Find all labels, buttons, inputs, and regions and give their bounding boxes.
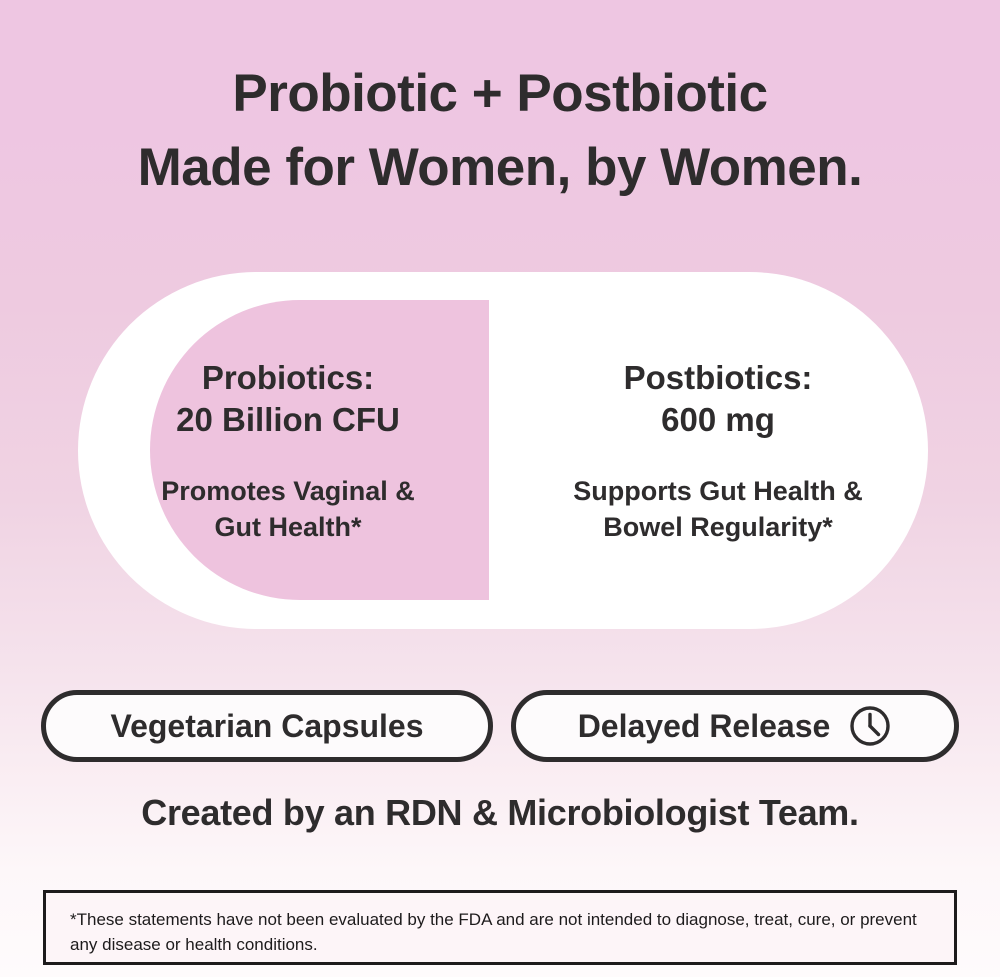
clock-icon bbox=[848, 704, 892, 748]
badge-delayed-release: Delayed Release bbox=[511, 690, 959, 762]
postbiotics-description-line-2: Bowel Regularity* bbox=[573, 509, 863, 545]
badge-delayed-release-label: Delayed Release bbox=[578, 708, 831, 745]
page-title: Probiotic + Postbiotic Made for Women, b… bbox=[0, 62, 1000, 200]
disclaimer-box: *These statements have not been evaluate… bbox=[43, 890, 957, 965]
disclaimer-text: *These statements have not been evaluate… bbox=[70, 910, 917, 954]
product-infographic: Probiotic + Postbiotic Made for Women, b… bbox=[0, 0, 1000, 977]
probiotics-description-line-1: Promotes Vaginal & bbox=[161, 473, 415, 509]
probiotics-description: Promotes Vaginal & Gut Health* bbox=[161, 473, 415, 545]
postbiotics-description: Supports Gut Health & Bowel Regularity* bbox=[573, 473, 863, 545]
headline-line-1: Probiotic + Postbiotic bbox=[0, 62, 1000, 126]
badge-vegetarian-capsules: Vegetarian Capsules bbox=[41, 690, 493, 762]
tagline: Created by an RDN & Microbiologist Team. bbox=[0, 790, 1000, 836]
feature-badges: Vegetarian Capsules Delayed Release bbox=[0, 690, 1000, 762]
postbiotics-description-line-1: Supports Gut Health & bbox=[573, 473, 863, 509]
postbiotics-title: Postbiotics: bbox=[624, 357, 813, 399]
capsule-graphic: Probiotics: 20 Billion CFU Promotes Vagi… bbox=[78, 272, 928, 629]
probiotics-title: Probiotics: bbox=[202, 357, 374, 399]
capsule-panel-postbiotics: Postbiotics: 600 mg Supports Gut Health … bbox=[502, 272, 928, 629]
capsule-panel-probiotics: Probiotics: 20 Billion CFU Promotes Vagi… bbox=[78, 272, 502, 629]
probiotics-amount: 20 Billion CFU bbox=[176, 399, 400, 441]
badge-vegetarian-capsules-label: Vegetarian Capsules bbox=[110, 708, 423, 745]
postbiotics-amount: 600 mg bbox=[661, 399, 775, 441]
headline-line-2: Made for Women, by Women. bbox=[0, 136, 1000, 200]
probiotics-description-line-2: Gut Health* bbox=[161, 509, 415, 545]
